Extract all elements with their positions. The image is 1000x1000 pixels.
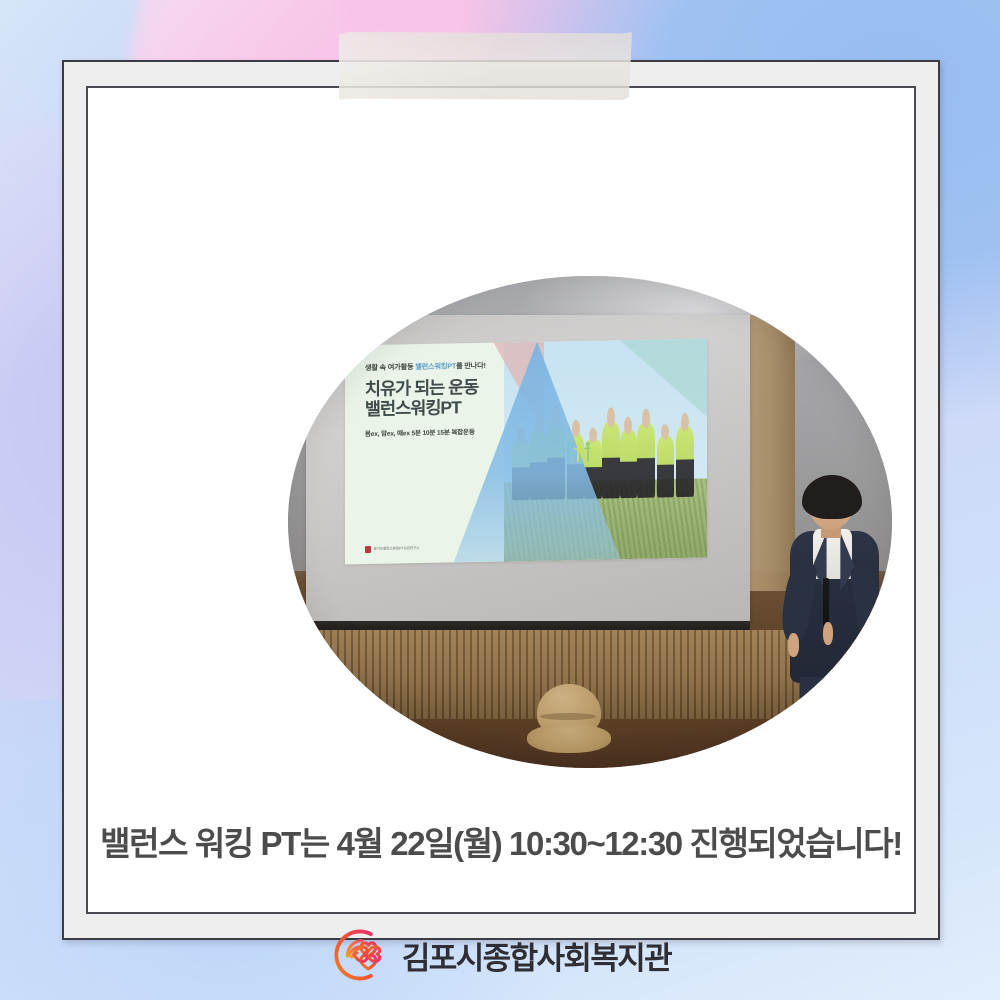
slide-text-block: 생활 속 여가활동 밸런스워킹PT를 만나다! 치유가 되는 운동 밸런스워킹P… — [365, 359, 597, 439]
photo-frame: 생활 속 여가활동 밸런스워킹PT를 만나다! 치유가 되는 운동 밸런스워킹P… — [62, 60, 940, 940]
figure-blue-icon — [565, 442, 572, 462]
slide-eyebrow-highlight: 밸런스워킹PT — [416, 361, 457, 371]
projected-slide: 생활 속 여가활동 밸런스워킹PT를 만나다! 치유가 되는 운동 밸런스워킹P… — [345, 339, 707, 565]
slide-eyebrow-suffix: 를 만나다! — [456, 361, 486, 371]
event-caption: 밸런스 워킹 PT는 4월 22일(월) 10:30~12:30 진행되었습니다… — [88, 823, 914, 864]
slide-logo: 경기도밸런스워킹PT보급연구소 — [365, 545, 420, 553]
figure-green-icon — [585, 442, 592, 462]
slide-person — [620, 431, 638, 499]
presenter — [777, 475, 892, 768]
slide-title-line1: 치유가 되는 운동 — [365, 377, 478, 399]
slide-eyebrow-prefix: 생활 속 여가활동 — [365, 362, 415, 372]
presenter-hand-left — [788, 633, 799, 656]
slide-logo-text: 경기도밸런스워킹PT보급연구소 — [374, 546, 420, 552]
organization-name: 김포시종합사회복지관 — [402, 933, 671, 978]
slide-person — [657, 436, 675, 497]
slide-eyebrow: 생활 속 여가활동 밸런스워킹PT를 만나다! — [365, 359, 597, 373]
figure-lime-icon — [575, 442, 582, 462]
organization-logo: 김포시종합사회복지관 — [88, 926, 914, 984]
slide-title: 치유가 되는 운동 밸런스워킹PT — [365, 375, 597, 420]
washi-tape — [339, 32, 632, 100]
slide-title-line2: 밸런스워킹PT — [365, 395, 597, 420]
bucket-hat-brim — [527, 724, 612, 753]
slide-figure-icons — [565, 442, 592, 463]
slide-person — [602, 423, 620, 499]
frame-inner-panel: 생활 속 여가활동 밸런스워킹PT를 만나다! 치유가 되는 운동 밸런스워킹P… — [86, 86, 916, 914]
bucket-hat — [527, 684, 612, 753]
slide-person — [637, 424, 655, 498]
presenter-trousers — [800, 677, 867, 768]
slide-logo-mark-icon — [365, 546, 371, 553]
gimpo-welfare-center-logo-icon — [331, 926, 389, 984]
presenter-hair — [802, 475, 862, 519]
photo-scene: 생활 속 여가활동 밸런스워킹PT를 만나다! 치유가 되는 운동 밸런스워킹P… — [288, 276, 892, 768]
event-photo: 생활 속 여가활동 밸런스워킹PT를 만나다! 치유가 되는 운동 밸런스워킹P… — [288, 276, 892, 768]
slide-person — [676, 427, 694, 497]
